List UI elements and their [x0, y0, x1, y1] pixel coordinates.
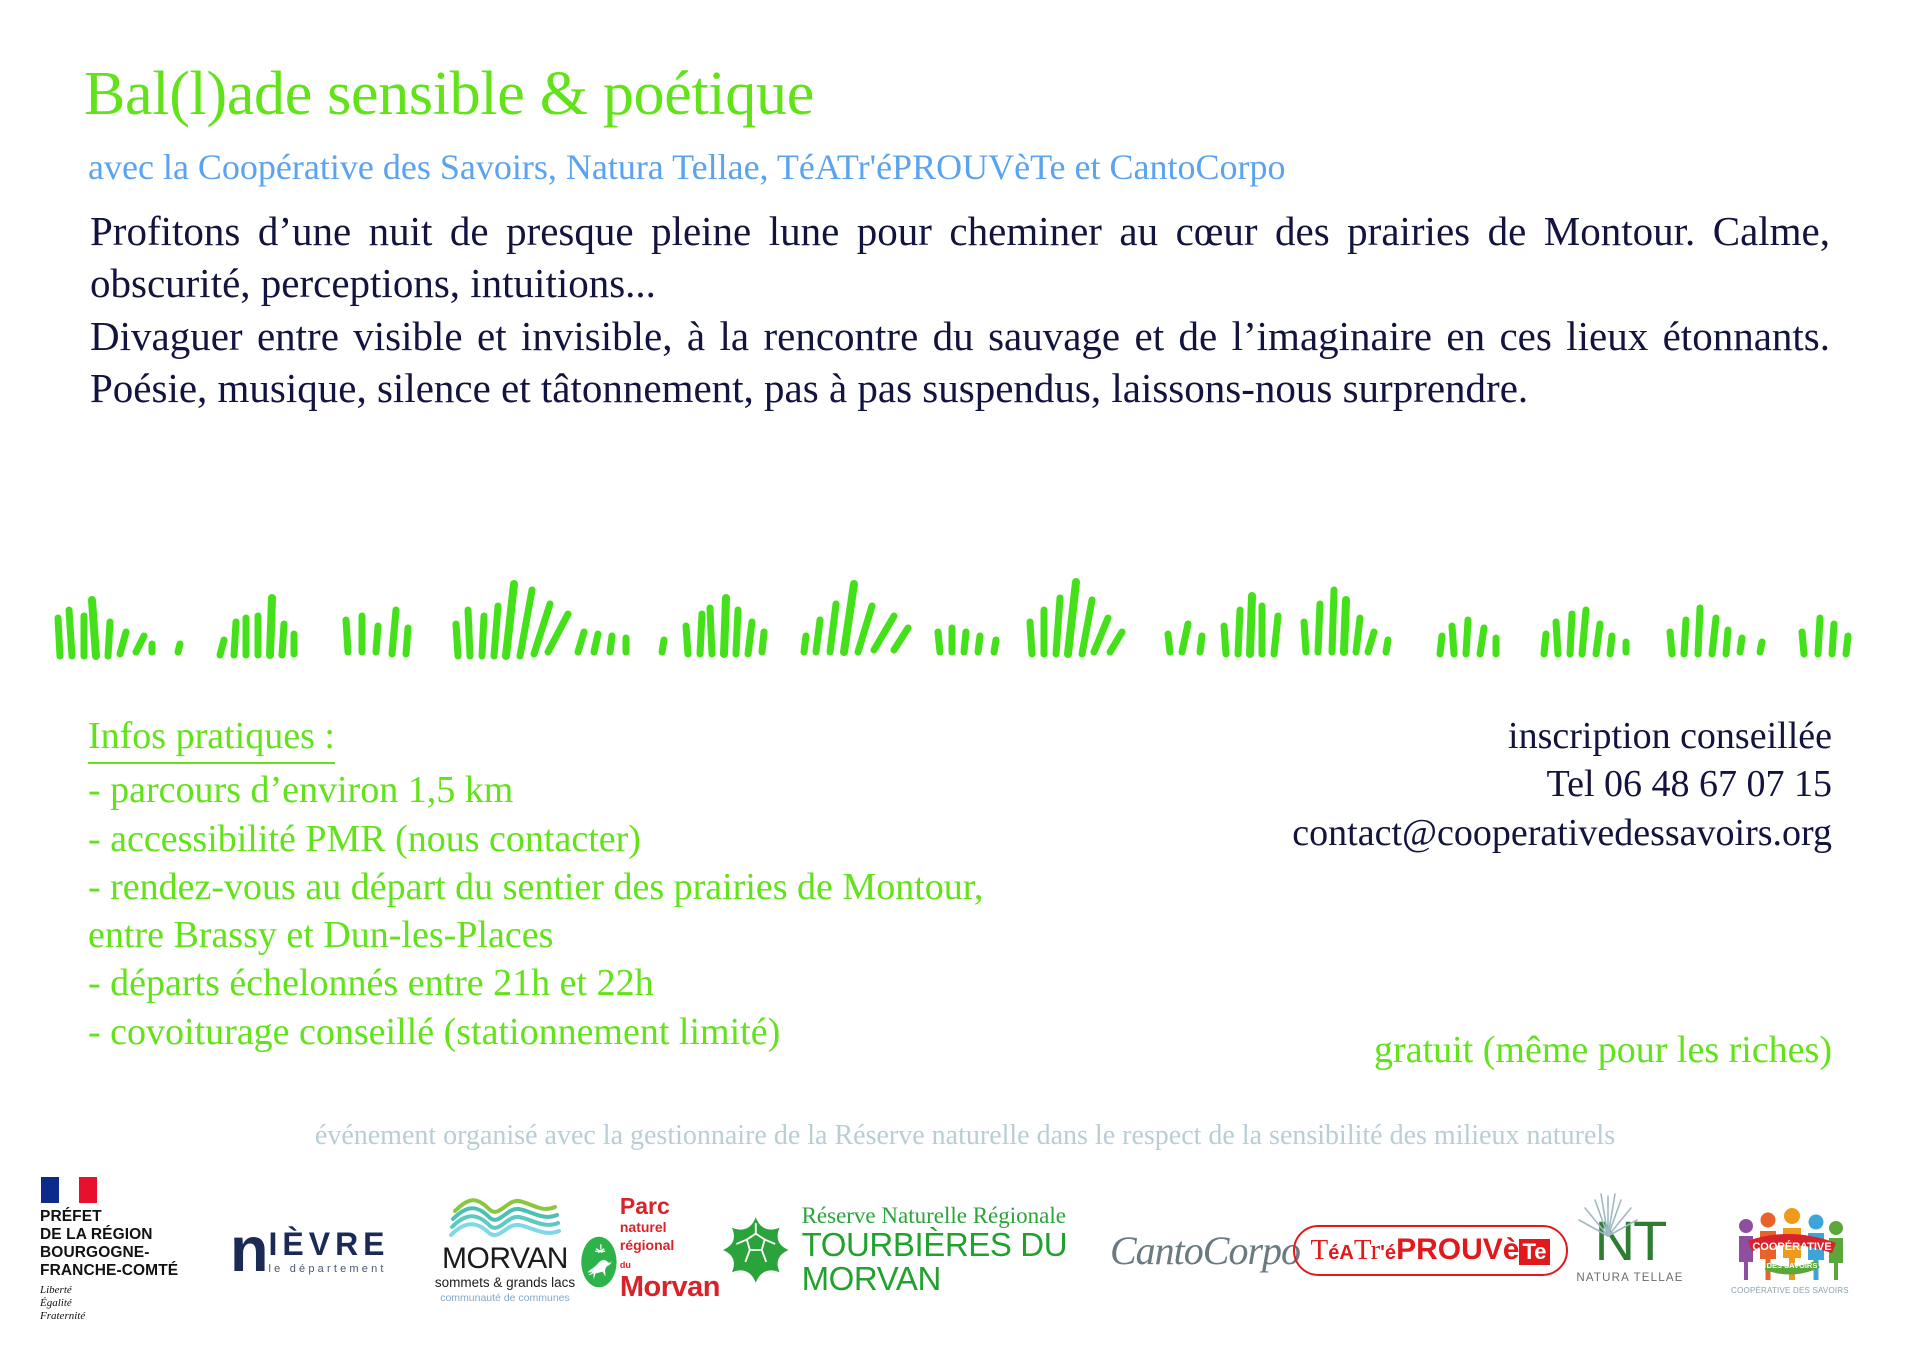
logo-prefet-motto: LibertéÉgalitéFraternité: [40, 1284, 85, 1323]
practical-info-item: - covoiturage conseillé (stationnement l…: [88, 1008, 1288, 1056]
logo-cantocorpo-name: CantoCorpo: [1110, 1227, 1300, 1274]
teatr-part-6: PR: [1396, 1233, 1438, 1267]
logo-cantocorpo: CantoCorpo: [1110, 1227, 1300, 1274]
teatr-part-3: A: [1339, 1242, 1353, 1265]
teatr-part-5: 'é: [1380, 1242, 1396, 1265]
teatr-pill-shape: TéATr'éPROUVèTe: [1293, 1225, 1568, 1276]
free-entry-note: gratuit (même pour les riches): [1374, 1028, 1832, 1072]
registration-advice: inscription conseillée: [912, 712, 1832, 760]
logo-pnr-morvan: Parc naturel régional du Morvan: [580, 1196, 720, 1304]
reserve-star-icon: [720, 1202, 792, 1298]
teatr-part-8: Vè: [1483, 1233, 1520, 1267]
logo-natura-tellae: NT NATURA TELLAE: [1560, 1216, 1700, 1284]
teatr-part-1: T: [1311, 1234, 1329, 1267]
pnr-horse-icon: [580, 1220, 618, 1304]
logo-pnr-regional: régional: [620, 1237, 674, 1253]
logo-morvan-word: MORVAN: [442, 1244, 568, 1274]
logo-reserve-line2: TOURBIÈRES DU MORVAN: [802, 1226, 1068, 1297]
logo-prefet-bourgogne: PRÉFETDE LA RÉGIONBOURGOGNE-FRANCHE-COMT…: [40, 1177, 230, 1323]
logo-cooperative-savoirs: COOPÉRATIVE DES SAVOIRS COOPÉRATIVE DES …: [1700, 1206, 1880, 1295]
partner-logos-strip: PRÉFETDE LA RÉGIONBOURGOGNE-FRANCHE-COMT…: [40, 1180, 1880, 1320]
logo-natura-name: NATURA TELLAE: [1576, 1272, 1683, 1284]
practical-info-item: entre Brassy et Dun-les-Places: [88, 911, 1288, 959]
logo-reserve-naturelle: Réserve Naturelle Régionale TOURBIÈRES D…: [720, 1202, 1110, 1298]
logo-teatreprouvete: TéATr'éPROUVèTe: [1300, 1225, 1560, 1276]
body-description: Profitons d’une nuit de presque pleine l…: [90, 205, 1830, 415]
teatr-part-4: Tr: [1354, 1234, 1380, 1267]
logo-pnr-parc: Parc: [620, 1193, 670, 1219]
svg-text:DES SAVOIRS: DES SAVOIRS: [1767, 1261, 1818, 1270]
nievre-n-mark-icon: n: [230, 1225, 265, 1275]
logo-pnr-naturel: naturel: [620, 1219, 667, 1235]
natura-nt-mark-icon: NT: [1595, 1216, 1666, 1266]
teatr-part-9: Te: [1519, 1239, 1549, 1265]
organiser-note: événement organisé avec la gestionnaire …: [50, 1120, 1880, 1152]
logo-cooperative-name: COOPÉRATIVE DES SAVOIRS: [1731, 1286, 1849, 1295]
email-address[interactable]: contact@cooperativedessavoirs.org: [912, 809, 1832, 857]
logo-pnr-morvan: Morvan: [620, 1271, 720, 1303]
phone-number[interactable]: Tel 06 48 67 07 15: [912, 760, 1832, 808]
svg-text:COOPÉRATIVE: COOPÉRATIVE: [1752, 1240, 1831, 1253]
natura-burst-icon: [1573, 1190, 1643, 1242]
teatr-part-2: é: [1328, 1242, 1339, 1265]
body-paragraph-1: Profitons d’une nuit de presque pleine l…: [90, 205, 1830, 310]
page-title: Bal(l)ade sensible & poétique: [84, 62, 814, 127]
contact-block: inscription conseillée Tel 06 48 67 07 1…: [912, 712, 1832, 857]
logo-prefet-name: PRÉFETDE LA RÉGIONBOURGOGNE-FRANCHE-COMT…: [40, 1208, 178, 1280]
logo-nievre-word: IÈVRE: [268, 1228, 389, 1260]
body-paragraph-2: Divaguer entre visible et invisible, à l…: [90, 310, 1830, 415]
logo-morvan-communaute: MORVAN sommets & grands lacs communauté …: [430, 1195, 580, 1304]
logo-pnr-du: du: [620, 1260, 631, 1270]
logo-nievre-departement: n IÈVRE le département: [230, 1225, 430, 1275]
french-flag-icon: [41, 1177, 97, 1203]
grass-divider-icon: [48, 548, 1878, 663]
cooperative-figures-icon: COOPÉRATIVE DES SAVOIRS: [1730, 1206, 1850, 1284]
logo-nievre-sub: le département: [268, 1263, 389, 1275]
logo-reserve-line1: Réserve Naturelle Régionale: [802, 1203, 1066, 1228]
logo-morvan-subtitle: communauté de communes: [440, 1293, 570, 1305]
logo-morvan-tagline: sommets & grands lacs: [435, 1276, 575, 1291]
practical-info-item: - rendez-vous au départ du sentier des p…: [88, 863, 1288, 911]
teatr-part-7: OU: [1438, 1233, 1483, 1267]
page-subtitle: avec la Coopérative des Savoirs, Natura …: [88, 148, 1286, 188]
morvan-hills-icon: [449, 1195, 561, 1241]
practical-info-item: - départs échelonnés entre 21h et 22h: [88, 959, 1288, 1007]
poster-canvas: Bal(l)ade sensible & poétique avec la Co…: [0, 0, 1920, 1357]
